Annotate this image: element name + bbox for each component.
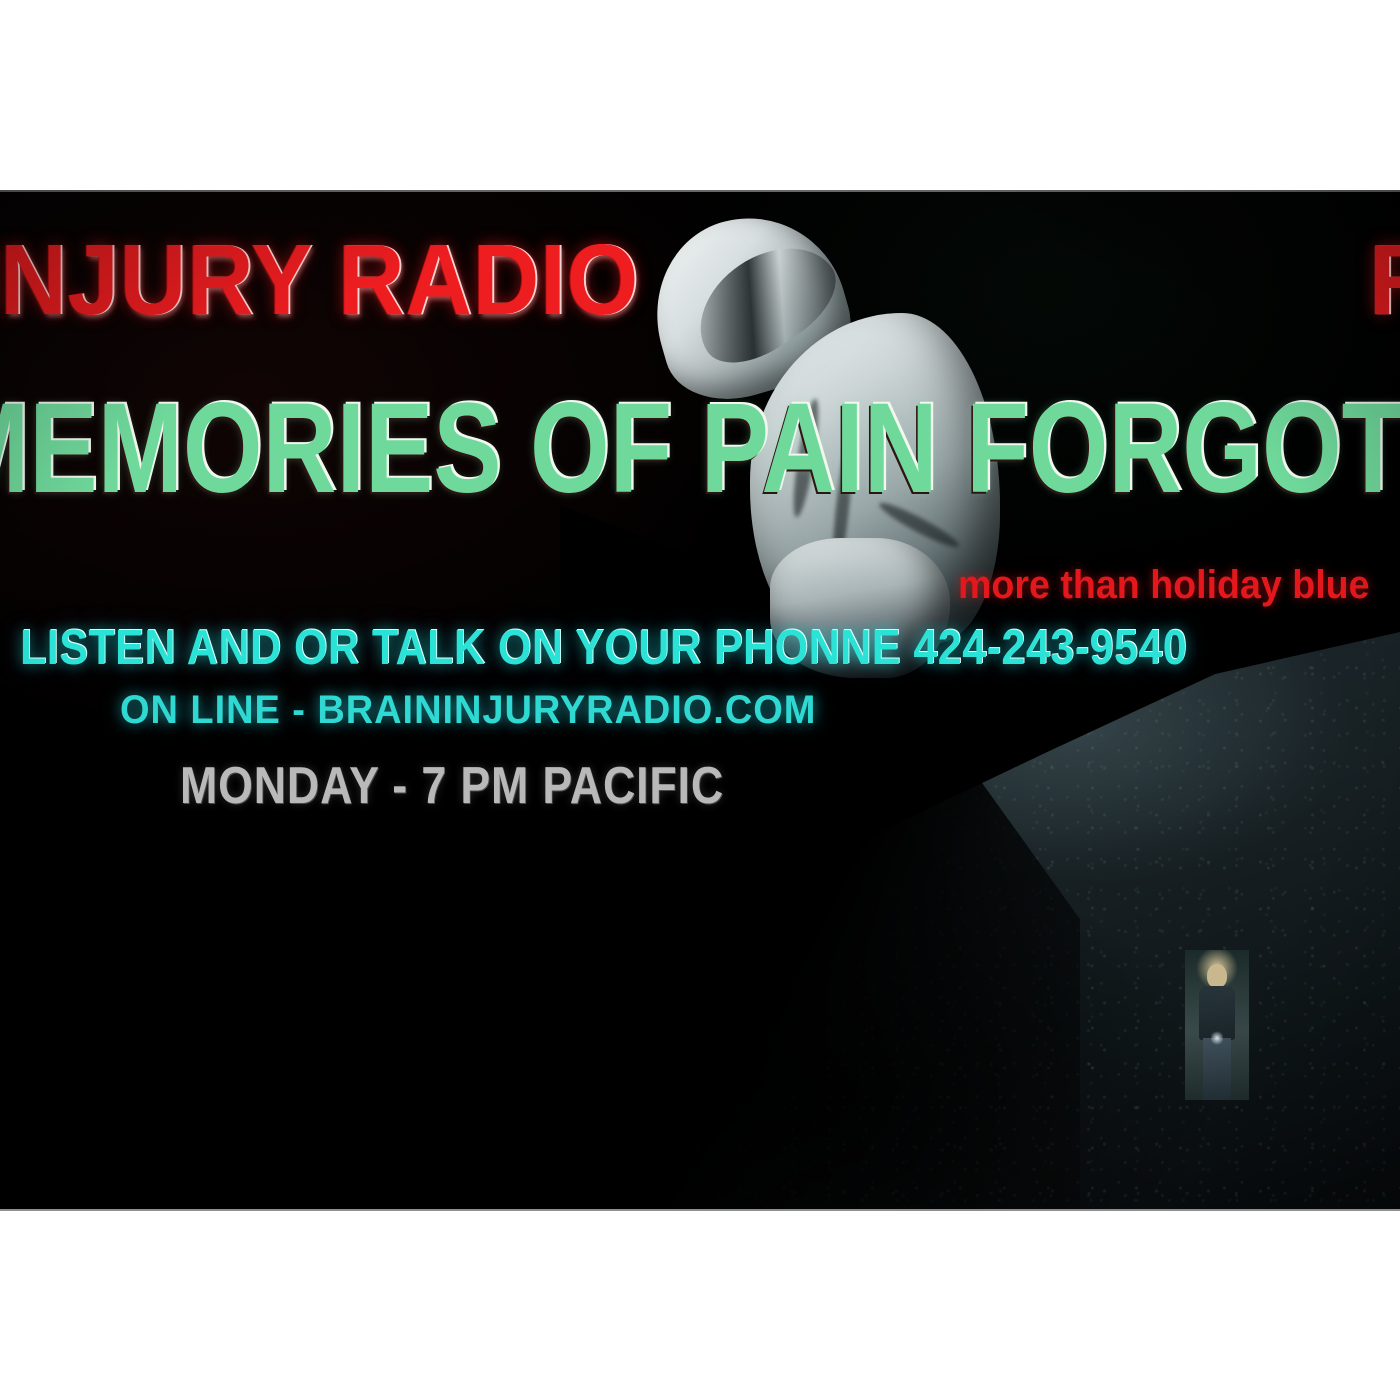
episode-title-text: MEMORIES OF PAIN FORGOTTEN SURVIVOR — [0, 385, 1400, 513]
podcast-cover-artwork: N INJURY RADIO R MEMORIES OF PAIN FORGOT… — [0, 190, 1400, 1211]
host-portrait-photo — [1185, 950, 1249, 1100]
schedule-text: MONDAY - 7 PM PACIFIC — [180, 760, 724, 812]
artwork-bottom-edge — [0, 1209, 1400, 1211]
episode-tagline-text: more than holiday blue — [958, 565, 1370, 605]
host-portrait-legs — [1203, 1038, 1231, 1100]
host-portrait-head — [1207, 964, 1227, 988]
call-in-phone-text: LISTEN AND OR TALK ON YOUR PHONNE 424-24… — [20, 624, 1187, 673]
podcast-cover-page: N INJURY RADIO R MEMORIES OF PAIN FORGOT… — [0, 0, 1400, 1400]
station-name-right-fragment: R — [1368, 230, 1400, 330]
website-text: ON LINE - BRAININJURYRADIO.COM — [120, 690, 816, 730]
station-name-text: N INJURY RADIO — [0, 230, 639, 330]
host-portrait-highlight — [1211, 1030, 1223, 1046]
